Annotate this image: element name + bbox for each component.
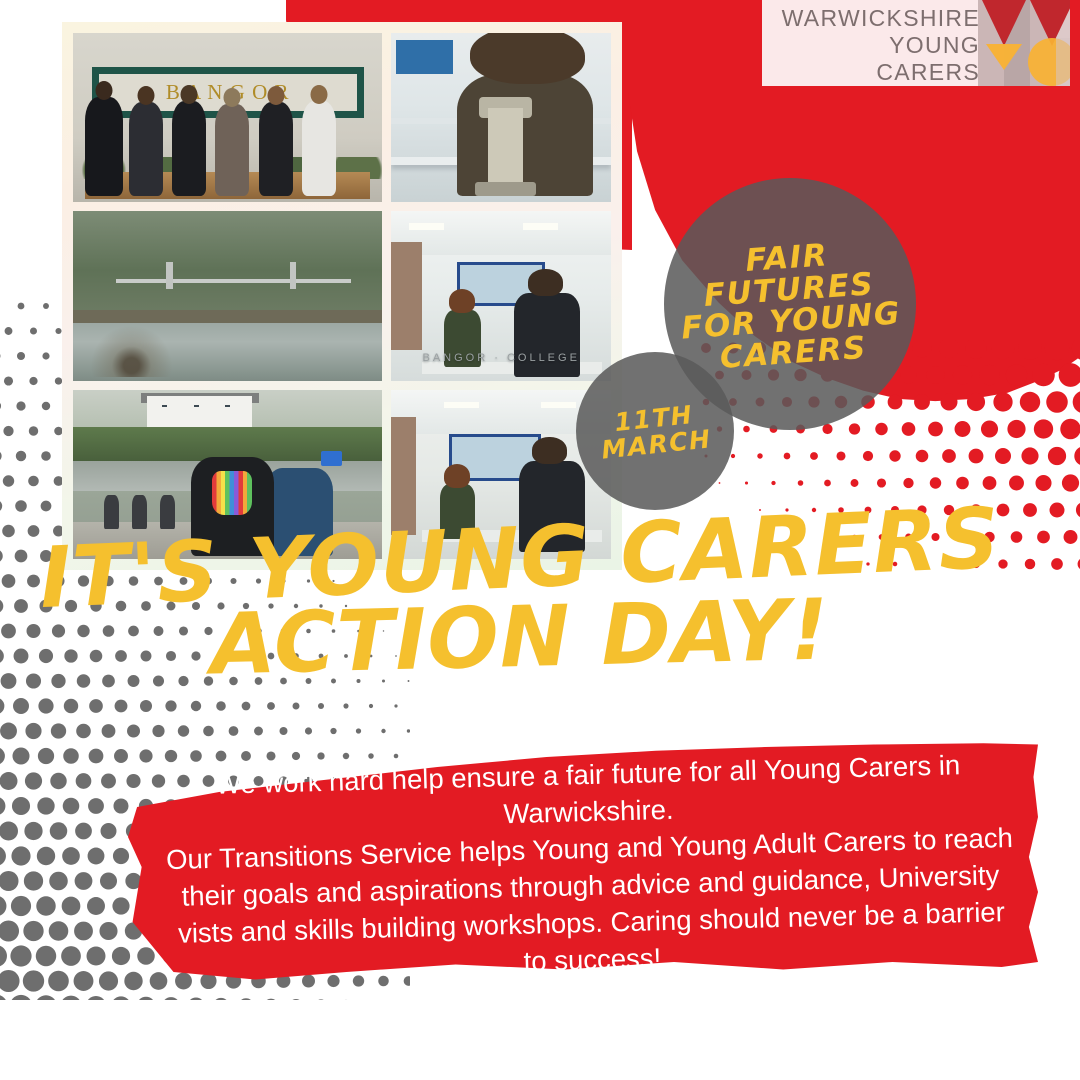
logo-line-2: YOUNG bbox=[889, 32, 980, 59]
menai-bridge-photo bbox=[73, 211, 382, 380]
distant-person bbox=[160, 495, 175, 529]
suspension-bridge-deck bbox=[116, 279, 351, 283]
ceiling-light bbox=[444, 402, 479, 409]
logo-line-3: CARERS bbox=[876, 59, 980, 86]
student-hair bbox=[528, 269, 563, 296]
wyc-geometric-logo-mark bbox=[978, 0, 1080, 88]
person-blue-coat bbox=[265, 468, 333, 556]
logo-red-edge-bottom bbox=[762, 86, 1080, 94]
lab-noticeboard bbox=[396, 40, 453, 74]
theme-badge-text: FAIR FUTURES FOR YOUNG CARERS bbox=[676, 231, 905, 376]
microscope-base bbox=[475, 182, 536, 196]
photo-collage-card: B A N G O R bbox=[62, 22, 622, 570]
body-paragraph-2: Our Transitions Service helps Young and … bbox=[149, 820, 1033, 990]
group-person bbox=[172, 101, 206, 196]
bridge-pylon bbox=[290, 262, 297, 289]
group-person bbox=[85, 97, 122, 195]
house-window bbox=[225, 405, 230, 407]
house-window bbox=[194, 405, 199, 407]
suspended-ceiling bbox=[391, 211, 611, 255]
body-text: We work hard help ensure a fair future f… bbox=[147, 741, 1033, 996]
student-hoodie bbox=[457, 74, 593, 196]
distant-person bbox=[104, 495, 119, 529]
microscope-student-photo bbox=[391, 33, 611, 202]
group-person bbox=[215, 104, 249, 195]
students-microscopes-photo: BANGOR · COLLEGE bbox=[391, 211, 611, 380]
rainbow-backpack bbox=[212, 471, 252, 515]
foreground-tree bbox=[85, 320, 178, 378]
blue-signpost bbox=[321, 451, 343, 466]
microscope-body bbox=[488, 108, 523, 186]
student-dark-shirt bbox=[519, 461, 585, 552]
waterside-group-photo bbox=[73, 390, 382, 559]
ceiling-light bbox=[541, 402, 576, 409]
bangor-sign-group-photo: B A N G O R bbox=[73, 33, 382, 202]
student-hair bbox=[444, 464, 470, 488]
group-person bbox=[129, 102, 163, 195]
ceiling-light bbox=[523, 223, 558, 230]
logo-red-edge-right bbox=[1070, 0, 1080, 88]
student-green-top bbox=[440, 484, 475, 538]
student-hair bbox=[449, 289, 475, 313]
photo-collage-grid: B A N G O R bbox=[73, 33, 611, 559]
house-window bbox=[162, 405, 167, 407]
brick-wall-segment bbox=[391, 417, 415, 536]
wooded-hillside bbox=[73, 211, 382, 309]
logo-wordmark: WARWICKSHIRE YOUNG CARERS bbox=[762, 0, 990, 88]
student-dark-shirt bbox=[514, 293, 580, 378]
white-house bbox=[147, 396, 252, 430]
bridge-pylon bbox=[166, 262, 173, 289]
group-person bbox=[259, 102, 293, 195]
date-badge-circle: 11TH MARCH bbox=[576, 352, 734, 510]
poster-canvas: B A N G O R bbox=[0, 0, 1080, 1080]
student-curly-hair bbox=[470, 33, 584, 84]
brick-wall-segment bbox=[391, 242, 422, 350]
date-badge-text: 11TH MARCH bbox=[598, 400, 713, 462]
body-p1-line-1: We work hard help ensure a fair future f… bbox=[215, 751, 932, 801]
ceiling-light bbox=[409, 223, 444, 230]
distant-person bbox=[132, 495, 147, 529]
photo-overlay-caption: BANGOR · COLLEGE bbox=[391, 352, 611, 364]
logo-line-1: WARWICKSHIRE bbox=[782, 5, 980, 32]
student-hair bbox=[532, 437, 567, 464]
group-person bbox=[302, 101, 336, 196]
logo: WARWICKSHIRE YOUNG CARERS bbox=[762, 0, 1080, 94]
